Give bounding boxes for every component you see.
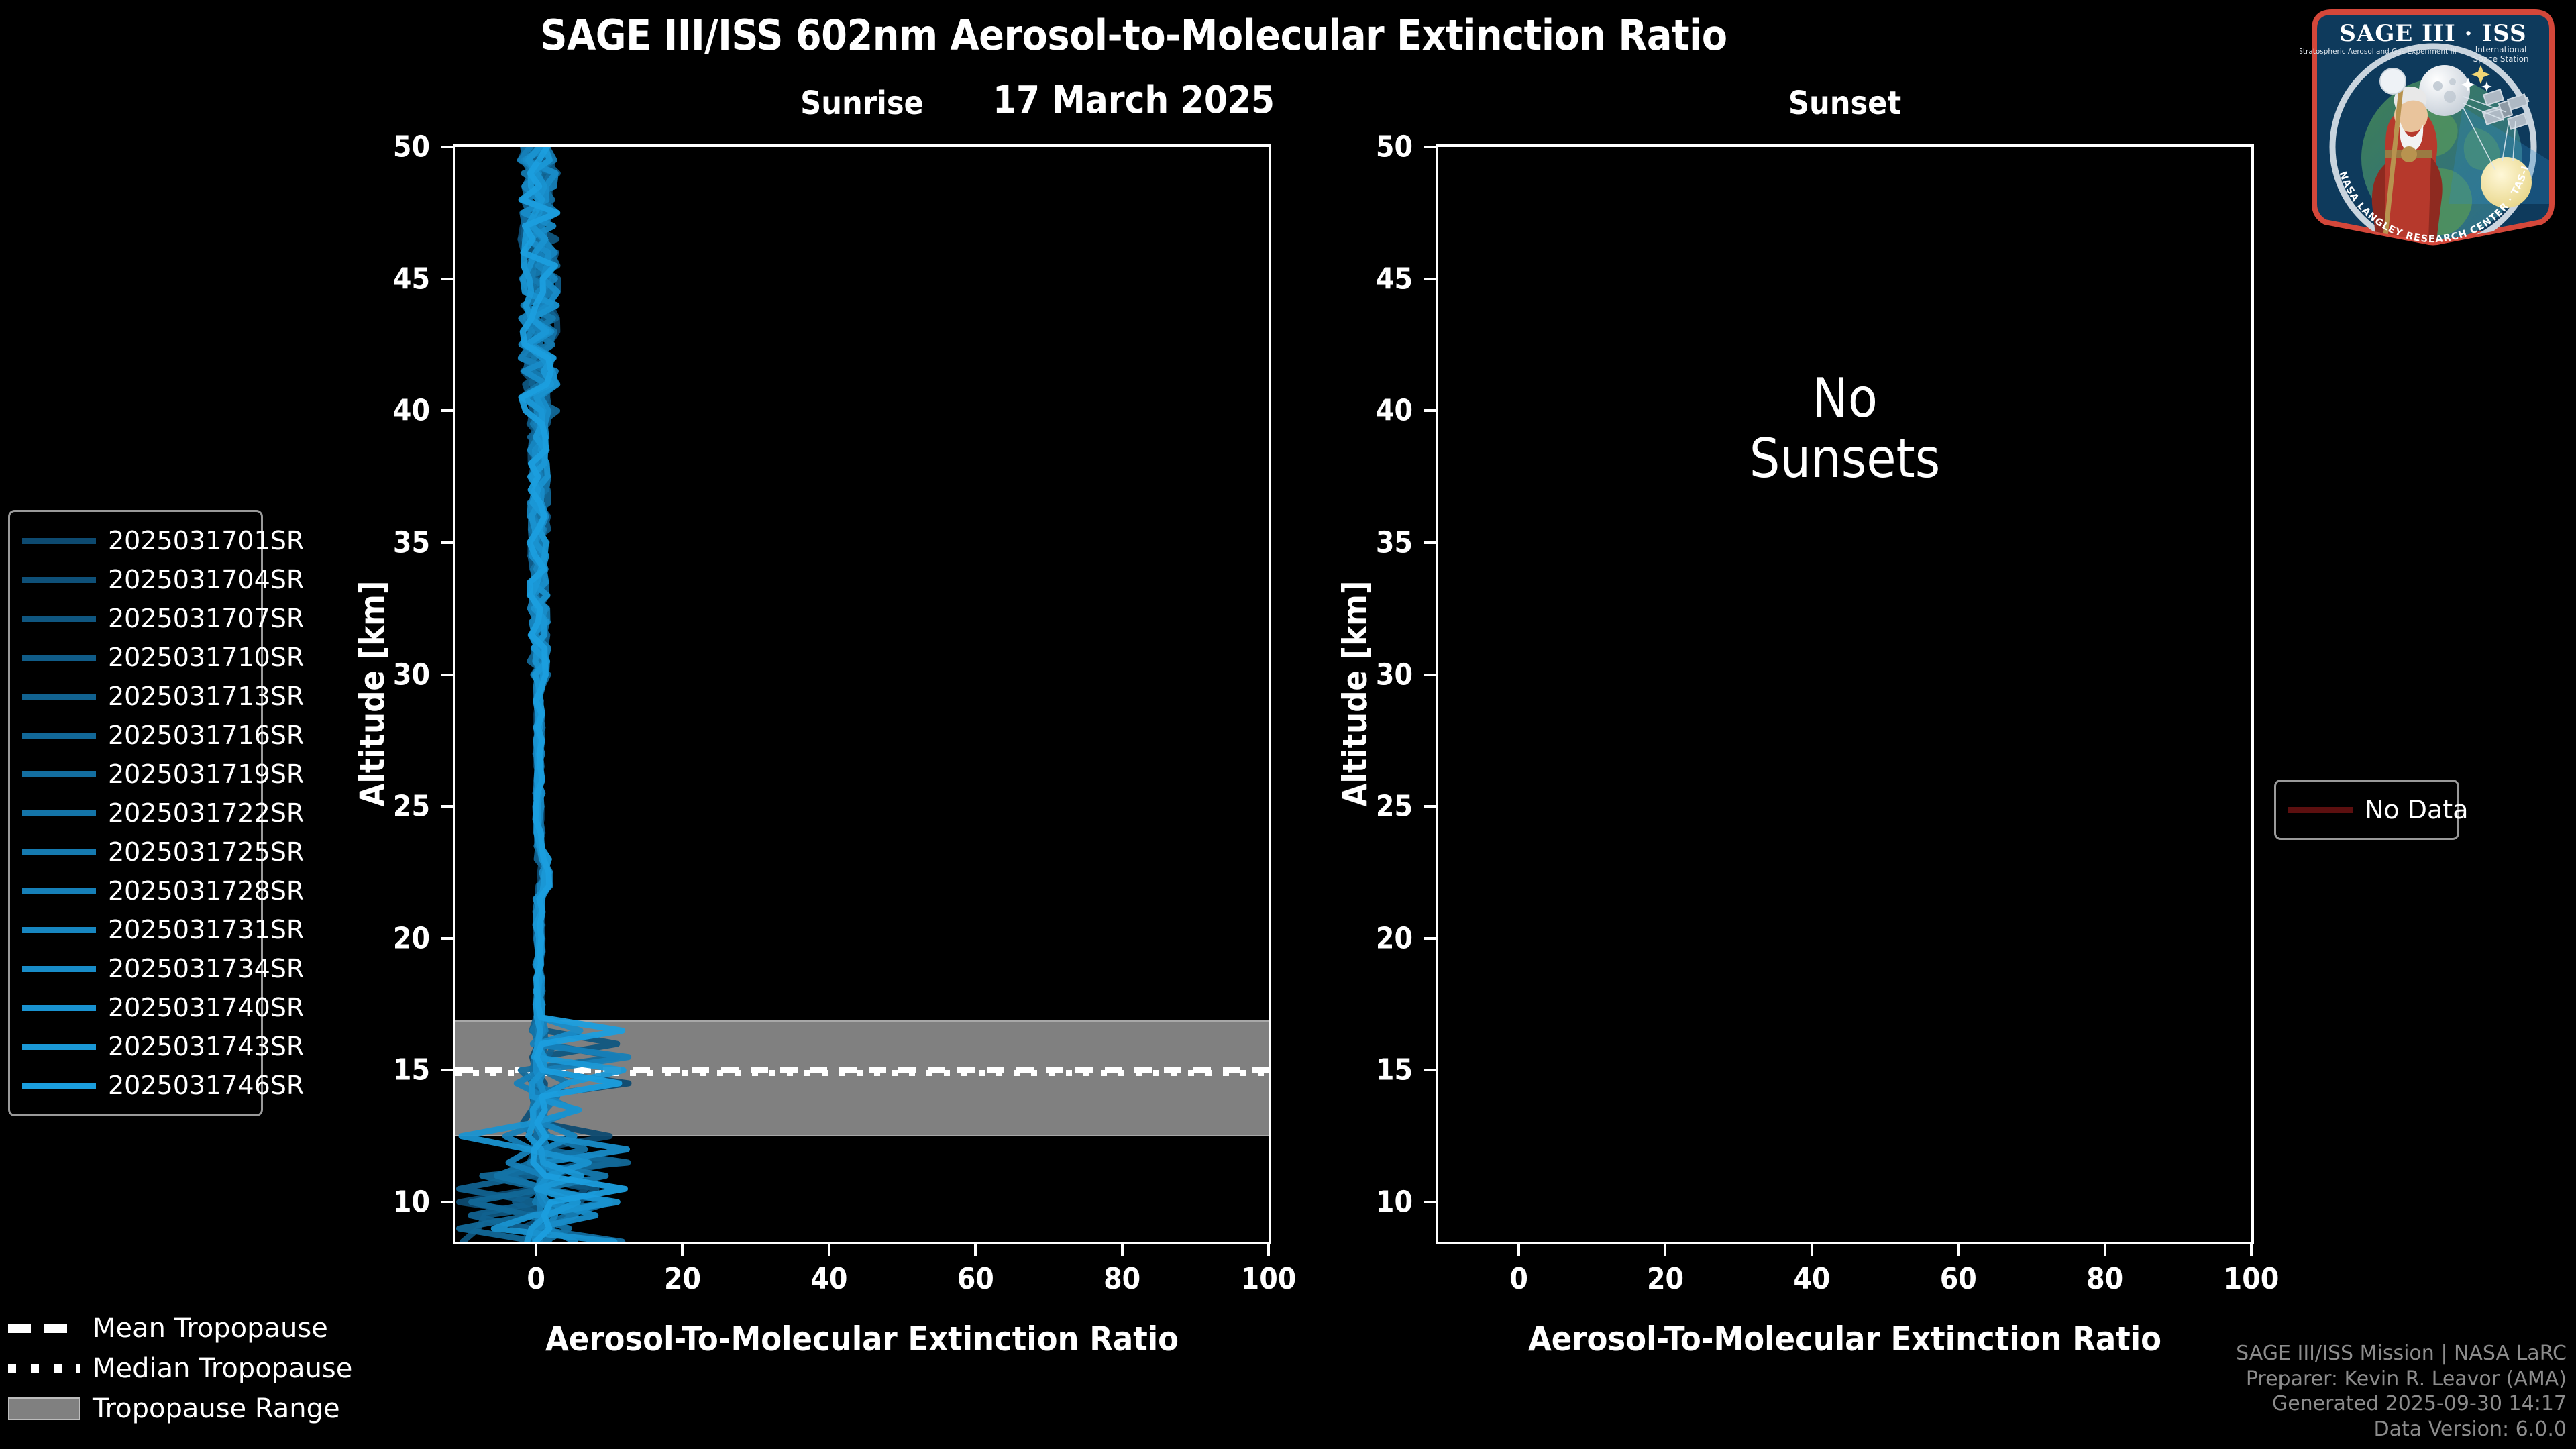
y-tick-mark-30 [1424, 674, 1436, 676]
legend-item-label: 2025031707SR [108, 604, 304, 633]
x-tick-label-20: 20 [664, 1262, 701, 1296]
legend-item-label: 2025031731SR [108, 915, 304, 945]
sunset-x-axis: 020406080100 [1436, 1244, 2254, 1325]
x-tick-mark-100 [2250, 1244, 2253, 1256]
legend-item-2025031707SR[interactable]: 2025031707SR [22, 599, 249, 638]
legend-color-swatch-icon [22, 733, 96, 739]
sunset-y-axis-title: Altitude [km] [1336, 553, 1375, 835]
legend-item-2025031710SR[interactable]: 2025031710SR [22, 638, 249, 677]
y-tick-mark-25 [1424, 805, 1436, 808]
dotted-line-icon [8, 1364, 80, 1373]
legend-color-swatch-icon [22, 888, 96, 894]
footer-line-4: Data Version: 6.0.0 [2236, 1417, 2567, 1442]
y-tick-label-30: 30 [1376, 657, 1413, 692]
no-data-line-icon [2288, 807, 2353, 813]
legend-item-2025031743SR[interactable]: 2025031743SR [22, 1027, 249, 1066]
y-tick-mark-20 [1424, 937, 1436, 940]
band-swatch-icon [8, 1397, 80, 1420]
legend-item-label: 2025031746SR [108, 1071, 304, 1100]
y-tick-mark-10 [441, 1201, 453, 1203]
x-tick-label-0: 0 [527, 1262, 545, 1296]
sunrise-y-axis-title: Altitude [km] [353, 553, 392, 835]
legend-item-label: 2025031713SR [108, 682, 304, 711]
y-tick-mark-35 [441, 541, 453, 544]
legend-color-swatch-icon [22, 927, 96, 933]
y-tick-label-35: 35 [1376, 525, 1413, 559]
sunset-panel-title: Sunset [1436, 87, 2254, 119]
x-tick-label-80: 80 [2086, 1262, 2123, 1296]
x-tick-mark-60 [1957, 1244, 1960, 1256]
x-tick-label-40: 40 [1793, 1262, 1830, 1296]
y-tick-label-20: 20 [1376, 921, 1413, 955]
tropopause-key: Mean Tropopause Median Tropopause Tropop… [8, 1308, 437, 1429]
legend-item-label: 2025031740SR [108, 993, 304, 1022]
sunrise-panel-title: Sunrise [453, 87, 1271, 119]
x-tick-label-80: 80 [1104, 1262, 1140, 1296]
median-tropopause-label: Median Tropopause [93, 1353, 352, 1384]
legend-item-2025031701SR[interactable]: 2025031701SR [22, 521, 249, 560]
y-tick-mark-50 [441, 146, 453, 148]
y-tick-label-25: 25 [393, 790, 430, 824]
y-tick-label-15: 15 [1376, 1053, 1413, 1087]
legend-color-swatch-icon [22, 577, 96, 583]
y-tick-label-10: 10 [1376, 1185, 1413, 1220]
legend-item-label: 2025031701SR [108, 526, 304, 555]
footer-line-1: SAGE III/ISS Mission | NASA LaRC [2236, 1341, 2567, 1366]
y-tick-label-35: 35 [393, 525, 430, 559]
legend-item-2025031740SR[interactable]: 2025031740SR [22, 988, 249, 1027]
y-tick-mark-50 [1424, 146, 1436, 148]
y-tick-mark-15 [1424, 1069, 1436, 1071]
tropopause-key-median: Median Tropopause [8, 1348, 437, 1389]
x-tick-mark-60 [974, 1244, 977, 1256]
dashed-line-icon [8, 1324, 80, 1333]
sunset-x-axis-title: Aerosol-To-Molecular Extinction Ratio [1436, 1320, 2254, 1358]
sunset-plot-area[interactable]: No Sunsets [1436, 144, 2254, 1244]
sage-iii-iss-mission-patch-logo: SAGE III · ISS Stratospheric Aerosol and… [2300, 3, 2567, 248]
footer-credits: SAGE III/ISS Mission | NASA LaRC Prepare… [2236, 1341, 2567, 1442]
y-tick-mark-40 [441, 409, 453, 412]
patch-subtitle-right-2: Space Station [2473, 54, 2528, 64]
legend-item-2025031746SR[interactable]: 2025031746SR [22, 1066, 249, 1105]
sunrise-x-axis-title: Aerosol-To-Molecular Extinction Ratio [453, 1320, 1271, 1358]
x-tick-mark-80 [2104, 1244, 2106, 1256]
legend-item-2025031734SR[interactable]: 2025031734SR [22, 949, 249, 988]
y-tick-label-15: 15 [393, 1053, 430, 1087]
legend-color-swatch-icon [22, 771, 96, 777]
legend-item-2025031704SR[interactable]: 2025031704SR [22, 560, 249, 599]
y-tick-mark-30 [441, 674, 453, 676]
y-tick-label-10: 10 [393, 1185, 430, 1220]
no-sunsets-message: No Sunsets [1438, 368, 2251, 488]
x-tick-mark-0 [1517, 1244, 1520, 1256]
x-tick-mark-40 [828, 1244, 830, 1256]
staff-orb-icon [2380, 68, 2406, 94]
x-tick-mark-20 [681, 1244, 684, 1256]
y-tick-label-45: 45 [393, 262, 430, 296]
legend-color-swatch-icon [22, 655, 96, 661]
footer-line-2: Preparer: Kevin R. Leavor (AMA) [2236, 1366, 2567, 1392]
y-tick-mark-20 [441, 937, 453, 940]
legend-item-2025031722SR[interactable]: 2025031722SR [22, 794, 249, 833]
tropopause-key-mean: Mean Tropopause [8, 1308, 437, 1348]
x-tick-label-60: 60 [957, 1262, 994, 1296]
no-data-legend[interactable]: No Data [2274, 780, 2459, 840]
moon-icon [2419, 65, 2470, 116]
legend-color-swatch-icon [22, 616, 96, 622]
legend-item-label: 2025031710SR [108, 643, 304, 672]
no-data-label: No Data [2365, 795, 2469, 824]
mean-tropopause-label: Mean Tropopause [93, 1313, 328, 1344]
y-tick-mark-10 [1424, 1201, 1436, 1203]
y-tick-label-40: 40 [1376, 394, 1413, 428]
x-tick-label-0: 0 [1509, 1262, 1528, 1296]
patch-subtitle-left: Stratospheric Aerosol and Gas Experiment… [2300, 48, 2457, 56]
patch-subtitle-right-1: International [2475, 45, 2527, 54]
legend-color-swatch-icon [22, 1005, 96, 1011]
event-legend[interactable]: 2025031701SR2025031704SR2025031707SR2025… [8, 510, 263, 1116]
x-tick-mark-40 [1811, 1244, 1813, 1256]
legend-item-label: 2025031704SR [108, 565, 304, 594]
legend-item-label: 2025031743SR [108, 1032, 304, 1061]
legend-item-label: 2025031728SR [108, 876, 304, 906]
x-tick-mark-20 [1664, 1244, 1666, 1256]
legend-item-label: 2025031722SR [108, 798, 304, 828]
x-tick-mark-80 [1121, 1244, 1124, 1256]
legend-color-swatch-icon [22, 810, 96, 816]
y-tick-label-25: 25 [1376, 790, 1413, 824]
legend-item-label: 2025031716SR [108, 720, 304, 750]
sunrise-profile-curves [455, 147, 1269, 1242]
tropopause-key-range: Tropopause Range [8, 1389, 437, 1429]
legend-item-label: 2025031719SR [108, 759, 304, 789]
y-tick-label-45: 45 [1376, 262, 1413, 296]
y-tick-label-50: 50 [393, 130, 430, 164]
y-tick-mark-15 [441, 1069, 453, 1071]
page-title: SAGE III/ISS 602nm Aerosol-to-Molecular … [0, 15, 2267, 56]
y-tick-mark-25 [441, 805, 453, 808]
y-tick-mark-45 [441, 278, 453, 280]
y-tick-label-40: 40 [393, 394, 430, 428]
legend-item-2025031725SR[interactable]: 2025031725SR [22, 833, 249, 871]
no-data-legend-row: No Data [2288, 791, 2445, 828]
x-tick-label-20: 20 [1647, 1262, 1684, 1296]
y-tick-mark-40 [1424, 409, 1436, 412]
sunrise-plot-area[interactable] [453, 144, 1271, 1244]
legend-item-2025031731SR[interactable]: 2025031731SR [22, 910, 249, 949]
footer-line-3: Generated 2025-09-30 14:17 [2236, 1391, 2567, 1417]
legend-color-swatch-icon [22, 538, 96, 544]
legend-item-2025031719SR[interactable]: 2025031719SR [22, 755, 249, 794]
legend-item-label: 2025031734SR [108, 954, 304, 983]
tropopause-range-label: Tropopause Range [93, 1393, 340, 1424]
legend-item-2025031728SR[interactable]: 2025031728SR [22, 871, 249, 910]
x-tick-label-100: 100 [1241, 1262, 1297, 1296]
legend-item-2025031716SR[interactable]: 2025031716SR [22, 716, 249, 755]
y-tick-label-50: 50 [1376, 130, 1413, 164]
y-tick-label-30: 30 [393, 657, 430, 692]
legend-item-2025031713SR[interactable]: 2025031713SR [22, 677, 249, 716]
legend-color-swatch-icon [22, 694, 96, 700]
legend-color-swatch-icon [22, 849, 96, 855]
y-tick-label-20: 20 [393, 921, 430, 955]
legend-color-swatch-icon [22, 1044, 96, 1050]
legend-item-label: 2025031725SR [108, 837, 304, 867]
y-tick-mark-45 [1424, 278, 1436, 280]
patch-title: SAGE III · ISS [2339, 20, 2526, 47]
legend-color-swatch-icon [22, 1083, 96, 1089]
legend-color-swatch-icon [22, 966, 96, 972]
sunrise-x-axis: 020406080100 [453, 1244, 1271, 1325]
x-tick-mark-100 [1267, 1244, 1270, 1256]
y-tick-mark-35 [1424, 541, 1436, 544]
x-tick-label-100: 100 [2224, 1262, 2279, 1296]
x-tick-label-40: 40 [810, 1262, 847, 1296]
x-tick-label-60: 60 [1940, 1262, 1977, 1296]
x-tick-mark-0 [535, 1244, 537, 1256]
